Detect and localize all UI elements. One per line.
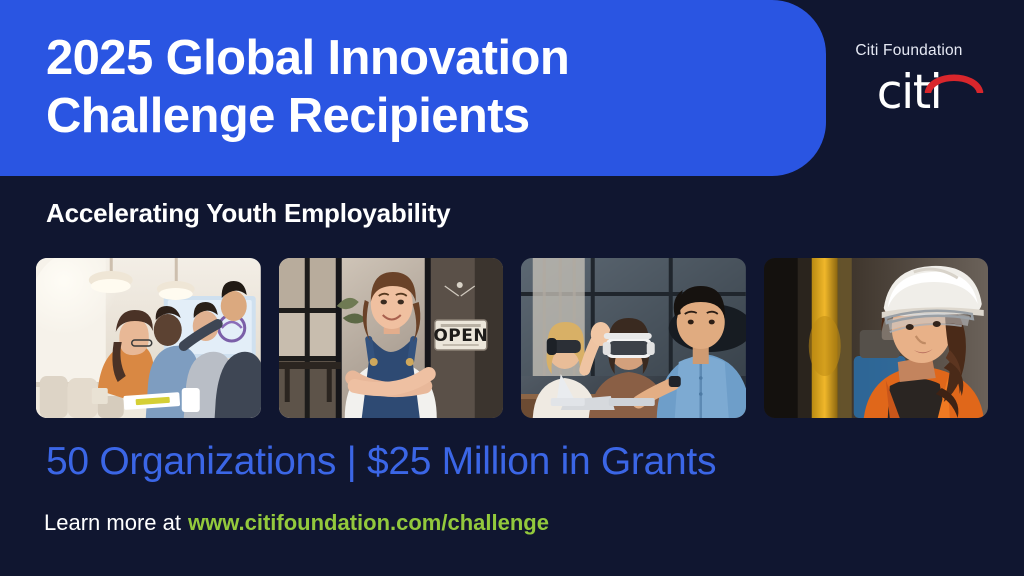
brand-block: Citi Foundation citi — [820, 42, 998, 116]
learn-more-prefix: Learn more at — [44, 510, 181, 535]
page-title-line-2: Challenge Recipients — [46, 88, 806, 146]
subtitle: Accelerating Youth Employability — [46, 198, 450, 229]
photo-engineer — [764, 258, 989, 418]
poster-canvas: 2025 Global Innovation Challenge Recipie… — [0, 0, 1024, 576]
photo-small-business-owner: OPEN — [279, 258, 504, 418]
photo-office-collaboration — [36, 258, 261, 418]
brand-name: Citi Foundation — [820, 42, 998, 60]
photo-vr-learning-image — [521, 258, 746, 418]
header-banner: 2025 Global Innovation Challenge Recipie… — [0, 0, 826, 176]
challenge-url-link[interactable]: www.citifoundation.com/challenge — [188, 510, 549, 535]
photo-vr-learning — [521, 258, 746, 418]
citi-wordmark: citi — [877, 69, 941, 116]
page-title-line-1: 2025 Global Innovation — [46, 30, 806, 88]
learn-more-line: Learn more atwww.citifoundation.com/chal… — [44, 510, 549, 536]
citi-logo: citi — [820, 64, 998, 116]
photo-small-business-owner-image: OPEN — [279, 258, 504, 418]
page-title: 2025 Global Innovation Challenge Recipie… — [46, 30, 806, 146]
svg-text:OPEN: OPEN — [433, 326, 488, 346]
photo-engineer-image — [764, 258, 989, 418]
stats-headline: 50 Organizations | $25 Million in Grants — [46, 440, 716, 484]
photo-strip: OPEN — [36, 258, 988, 418]
photo-office-collaboration-image — [36, 258, 261, 418]
